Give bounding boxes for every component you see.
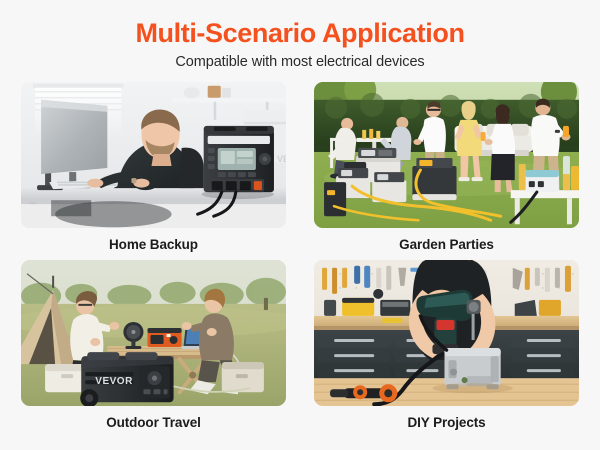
scenario-image-garden-parties: [314, 82, 579, 228]
scenario-grid: VEVO Home Backup: [21, 82, 579, 431]
scenario-caption-home-backup: Home Backup: [109, 237, 198, 253]
scenario-card-home-backup: VEVO Home Backup: [21, 82, 286, 253]
svg-text:VEVOR: VEVOR: [95, 377, 133, 388]
scenario-card-diy-projects: DIY Projects: [314, 260, 579, 431]
scenario-caption-diy-projects: DIY Projects: [407, 415, 485, 431]
outdoor-travel-illustration: VEVOR: [21, 260, 286, 406]
page-title: Multi-Scenario Application: [0, 18, 600, 48]
scenario-card-garden-parties: Garden Parties: [314, 82, 579, 253]
page-subtitle: Compatible with most electrical devices: [0, 54, 600, 70]
home-backup-illustration: VEVO: [21, 82, 286, 228]
page-header: Multi-Scenario Application Compatible wi…: [0, 0, 600, 70]
scenario-image-diy-projects: [314, 260, 579, 406]
scenario-card-outdoor-travel: VEVOR Outdoor Travel: [21, 260, 286, 431]
scenario-caption-outdoor-travel: Outdoor Travel: [106, 415, 201, 431]
svg-text:VEVO: VEVO: [277, 154, 286, 164]
scenario-image-outdoor-travel: VEVOR: [21, 260, 286, 406]
diy-projects-illustration: [314, 260, 579, 406]
multi-scenario-application-page: Multi-Scenario Application Compatible wi…: [0, 0, 600, 450]
scenario-image-home-backup: VEVO: [21, 82, 286, 228]
scenario-caption-garden-parties: Garden Parties: [399, 237, 494, 253]
garden-parties-illustration: [314, 82, 579, 228]
